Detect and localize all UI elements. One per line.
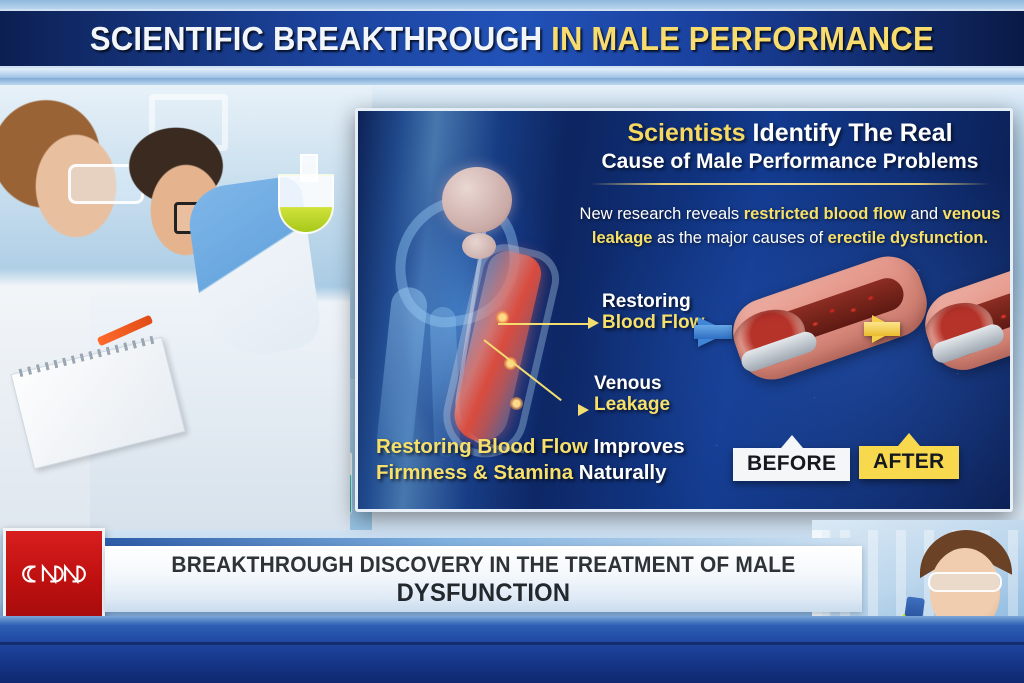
ticker-accent-bar	[105, 538, 862, 546]
badge-pointer-icon	[781, 435, 803, 448]
lab-photo	[0, 86, 372, 530]
infographic-root: SCIENTIFIC BREAKTHROUGH IN MALE PERFORMA…	[0, 0, 1024, 683]
badge-pointer-icon	[898, 433, 920, 446]
callout-line-white: Venous	[594, 373, 670, 394]
page-title: SCIENTIFIC BREAKTHROUGH IN MALE PERFORMA…	[90, 20, 934, 58]
leader-line	[483, 339, 561, 401]
main-info-panel: Scientists Identify The Real Cause of Ma…	[355, 108, 1013, 512]
callout-line-white: Restoring	[602, 291, 704, 312]
headline-rest: Identify The Real	[753, 119, 953, 147]
headline-line-2: Cause of Male Performance Problems	[570, 148, 1010, 175]
headline-divider	[590, 183, 990, 185]
headline-highlight: Scientists	[627, 119, 745, 147]
panel-tagline: Restoring Blood Flow Improves Firmness &…	[376, 434, 756, 487]
paragraph-part-2: and	[906, 205, 943, 223]
leader-line	[498, 323, 590, 325]
badge-after: AFTER	[859, 446, 959, 479]
ticker-line-2: DYSFUNCTION	[397, 579, 571, 608]
safety-goggles-icon	[928, 572, 1002, 592]
arrow-head-icon	[588, 317, 599, 329]
vessel-before	[732, 277, 928, 359]
page-title-white: SCIENTIFIC BREAKTHROUGH	[90, 20, 542, 57]
tagline-white-1: Improves	[588, 435, 685, 458]
tagline-yellow-2: Firmness & Stamina	[376, 461, 573, 484]
callout-line-yellow: Blood Flow	[602, 312, 704, 333]
paragraph-part-1: New research reveals	[580, 205, 744, 223]
callout-line-yellow: Leakage	[594, 394, 670, 415]
tagline-white-2: Naturally	[573, 461, 666, 484]
vessel-after	[924, 271, 1013, 351]
flask-icon	[278, 174, 334, 234]
callout-blood-flow: Restoring Blood Flow	[602, 291, 704, 334]
bladder-organ	[442, 167, 512, 233]
blue-blood-flow-arrow-icon	[698, 317, 730, 347]
badge-before-label: BEFORE	[747, 452, 836, 475]
ticker-line-1: BREAKTHROUGH DISCOVERY IN THE TREATMENT …	[172, 552, 796, 578]
panel-headline: Scientists Identify The Real Cause of Ma…	[570, 119, 1010, 185]
headline-line-1: Scientists Identify The Real	[570, 119, 1010, 148]
leader-arrow-blood-flow	[498, 317, 602, 331]
leader-arrow-venous-leakage	[484, 339, 602, 417]
paragraph-bold-1: restricted blood flow	[744, 205, 906, 223]
callout-venous-leakage: Venous Leakage	[594, 373, 670, 416]
paragraph-part-3: as the major causes of	[652, 229, 827, 247]
header-banner: SCIENTIFIC BREAKTHROUGH IN MALE PERFORMA…	[0, 9, 1024, 68]
news-ticker: BREAKTHROUGH DISCOVERY IN THE TREATMENT …	[105, 546, 862, 612]
cnn-wordmark-icon	[17, 557, 91, 591]
arrow-head-icon	[578, 404, 589, 416]
cnn-logo	[3, 528, 105, 619]
badge-after-label: AFTER	[873, 450, 945, 473]
banner-strip-top	[0, 0, 1024, 9]
banner-strip-under-2	[0, 78, 1024, 85]
panel-paragraph: New research reveals restricted blood fl…	[568, 203, 1012, 251]
paragraph-bold-3: erectile dysfunction.	[828, 229, 988, 247]
prostate-organ	[462, 233, 496, 259]
bottom-blue-band	[0, 616, 1024, 683]
transition-arrow-icon	[872, 315, 898, 343]
banner-strip-under-1	[0, 70, 1024, 78]
tagline-yellow-1: Restoring Blood Flow	[376, 435, 588, 458]
page-title-yellow: IN MALE PERFORMANCE	[551, 20, 934, 57]
